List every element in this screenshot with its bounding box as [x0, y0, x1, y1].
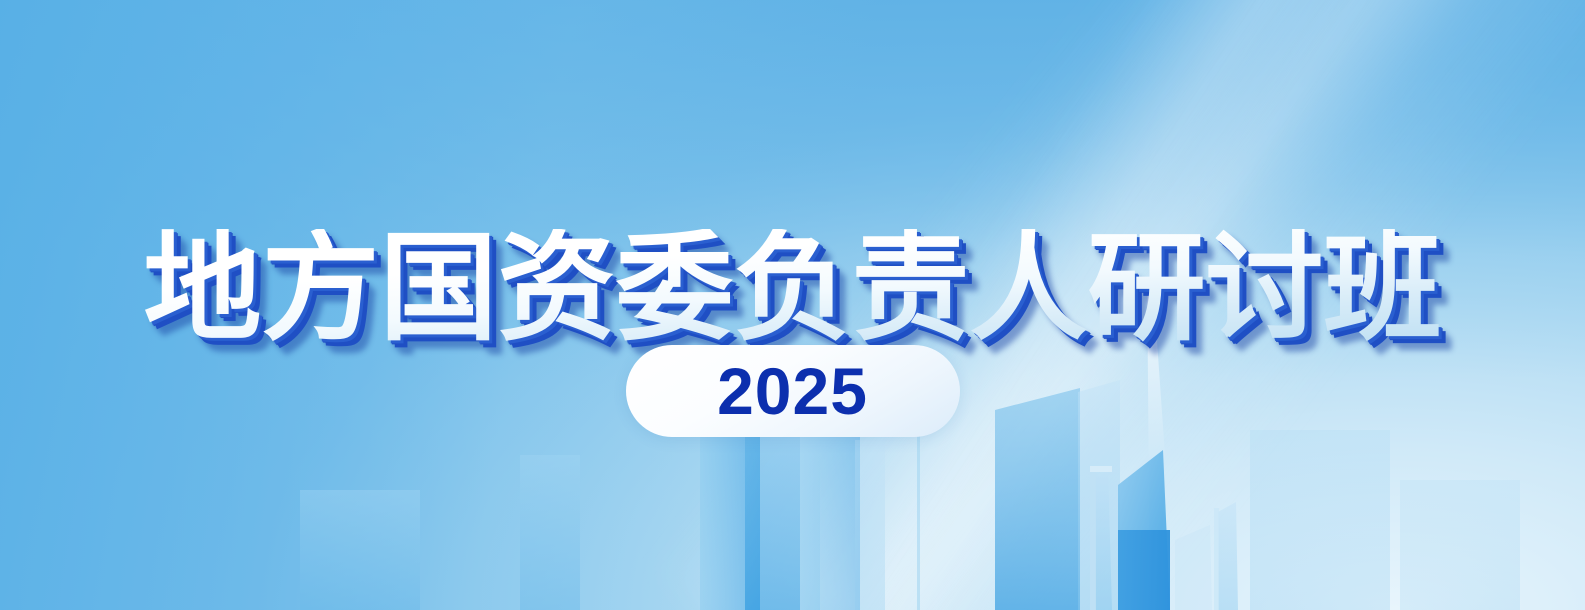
- banner-title: 地方国资委负责人研讨班: [143, 229, 1441, 347]
- year-badge-container: 2025: [0, 345, 1585, 437]
- year-badge-label: 2025: [717, 358, 868, 424]
- year-badge: 2025: [626, 345, 960, 437]
- banner-hero: 地方国资委负责人研讨班 2025: [0, 0, 1585, 610]
